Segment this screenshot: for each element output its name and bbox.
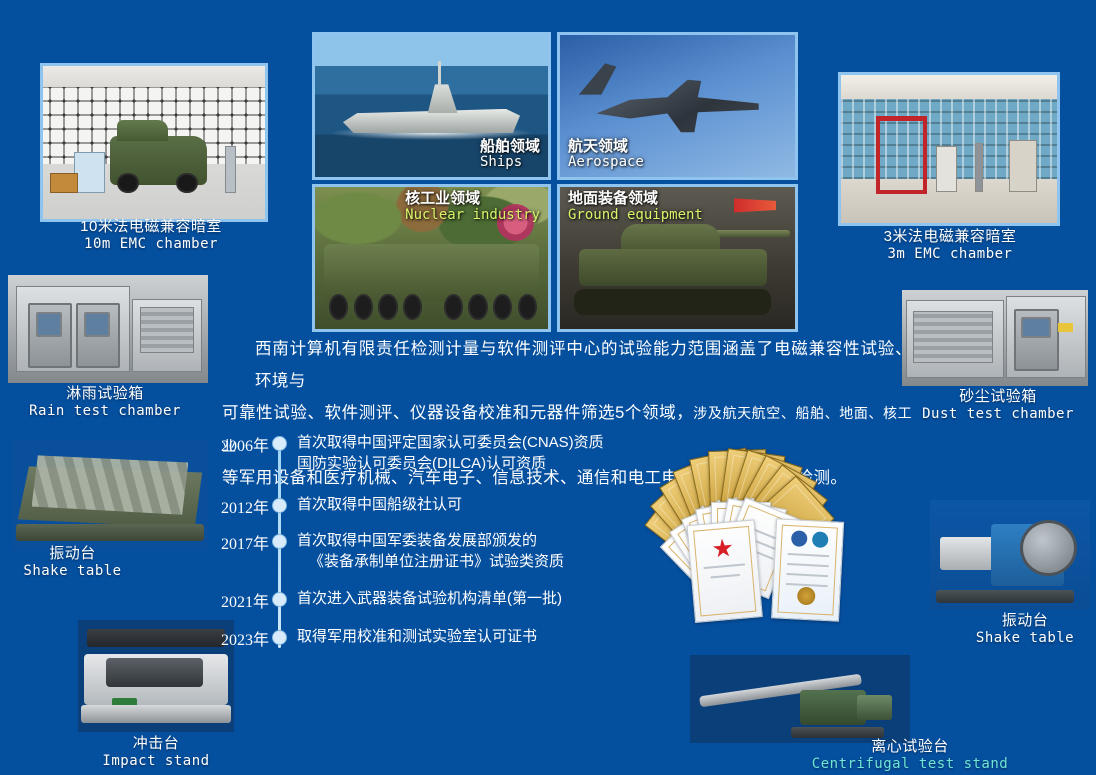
domain-aerospace-en: Aerospace bbox=[568, 155, 644, 171]
caption-impact: 冲击台 Impact stand bbox=[78, 735, 234, 769]
caption-impact-en: Impact stand bbox=[78, 753, 234, 770]
timeline-dot bbox=[273, 437, 286, 450]
domain-ships-cn: 船舶领域 bbox=[480, 139, 540, 156]
caption-emc10-cn: 10米法电磁兼容暗室 bbox=[25, 218, 277, 236]
timeline-year-2012: 2012年 bbox=[205, 494, 269, 518]
domain-nuclear-en: Nuclear industry bbox=[405, 208, 540, 224]
caption-rain-en: Rain test chamber bbox=[0, 403, 210, 420]
timeline-text-2012: 首次取得中国船级社认可 bbox=[297, 494, 622, 515]
photo-centrifugal-stand bbox=[690, 655, 910, 743]
red-star-icon bbox=[712, 538, 734, 560]
ship-mast bbox=[438, 61, 441, 87]
paragraph-line-1: 西南计算机有限责任检测计量与软件测评中心的试验能力范围涵盖了电磁兼容性试验、环境… bbox=[222, 333, 912, 397]
photo-shake-table-left bbox=[12, 440, 208, 550]
antenna-tripod bbox=[975, 143, 983, 192]
timeline-text-2006: 首次取得中国评定国家认可委员会(CNAS)资质 国防实验认可委员会(DILCA)… bbox=[297, 432, 622, 475]
domain-ground-en: Ground equipment bbox=[568, 208, 703, 224]
tel-wheels bbox=[329, 298, 534, 321]
domain-label-ships: 船舶领域 Ships bbox=[480, 139, 540, 171]
caption-shake-right-cn: 振动台 bbox=[955, 612, 1095, 630]
photo-ships: 船舶领域 Ships bbox=[312, 32, 551, 180]
equipment-cabinet bbox=[74, 152, 105, 194]
red-test-frame bbox=[876, 116, 927, 193]
timeline-text-2023: 取得军用校准和测试实验室认可证书 bbox=[297, 626, 622, 647]
test-vehicle bbox=[110, 136, 208, 185]
timeline-text-2023-line1: 取得军用校准和测试实验室认可证书 bbox=[297, 626, 622, 647]
timeline-year-2017: 2017年 bbox=[205, 530, 269, 554]
impact-fixture bbox=[106, 658, 203, 687]
caption-centrifugal-cn: 离心试验台 bbox=[790, 738, 1030, 756]
domain-aerospace-cn: 航天领域 bbox=[568, 139, 644, 156]
caption-dust: 砂尘试验箱 Dust test chamber bbox=[900, 388, 1096, 422]
timeline-text-2021: 首次进入武器装备试验机构清单(第一批) bbox=[297, 588, 622, 609]
equipment-rack bbox=[1009, 140, 1037, 192]
timeline-text-2021-line1: 首次进入武器装备试验机构清单(第一批) bbox=[297, 588, 622, 609]
chamber-shell bbox=[8, 275, 208, 383]
slip-table bbox=[940, 537, 998, 570]
domain-label-ground: 地面装备领域 Ground equipment bbox=[568, 191, 703, 223]
centrifugal-scene bbox=[690, 655, 910, 743]
white-cabinet bbox=[936, 146, 957, 192]
qualification-timeline: 2006年 首次取得中国评定国家认可委员会(CNAS)资质 国防实验认可委员会(… bbox=[205, 432, 625, 657]
paragraph-line-2a: 可靠性试验、软件测评、仪器设备校准和元器件筛选5个领域， bbox=[222, 404, 693, 422]
timeline-text-2017-line1: 首次取得中国军委装备发展部颁发的 bbox=[297, 530, 622, 551]
photo-aerospace: 航天领域 Aerospace bbox=[557, 32, 798, 180]
timeline-dot bbox=[273, 631, 286, 644]
test-bench bbox=[50, 173, 79, 193]
caption-emc10-en: 10m EMC chamber bbox=[25, 236, 277, 253]
timeline-year-2021: 2021年 bbox=[205, 588, 269, 612]
emc10-scene bbox=[43, 66, 265, 219]
tank-hull bbox=[579, 249, 767, 286]
timeline-year-2023: 2023年 bbox=[205, 626, 269, 650]
caption-shake-right-en: Shake table bbox=[955, 630, 1095, 647]
domain-label-nuclear: 核工业领域 Nuclear industry bbox=[405, 191, 540, 223]
tank-track bbox=[574, 289, 771, 315]
photo-dust-chamber bbox=[902, 290, 1088, 386]
ceiling bbox=[43, 66, 265, 87]
caption-centrifugal-en: Centrifugal test stand bbox=[790, 756, 1030, 773]
cnas-logo-icon bbox=[790, 530, 807, 547]
timeline-text-2006-line1: 首次取得中国评定国家认可委员会(CNAS)资质 bbox=[297, 432, 622, 453]
official-seal-icon bbox=[797, 587, 816, 606]
photo-nuclear: 核工业领域 Nuclear industry bbox=[312, 184, 551, 332]
domain-label-aerospace: 航天领域 Aerospace bbox=[568, 139, 644, 171]
accreditation-logo-icon bbox=[811, 531, 828, 548]
transporter-erector-launcher bbox=[324, 244, 538, 301]
shaker-fins bbox=[32, 455, 189, 514]
gearbox bbox=[857, 695, 892, 720]
poster-canvas: 10米法电磁兼容暗室 10m EMC chamber 3米法电磁兼容暗室 3m … bbox=[0, 0, 1096, 775]
emc3-scene bbox=[841, 75, 1057, 223]
timeline-year-2006: 2006年 bbox=[205, 432, 269, 456]
shaker-armature bbox=[1020, 520, 1077, 577]
caption-emc10: 10米法电磁兼容暗室 10m EMC chamber bbox=[25, 218, 277, 252]
photo-emc3 bbox=[838, 72, 1060, 226]
ceiling bbox=[841, 75, 1057, 99]
timeline-text-2006-line2: 国防实验认可委员会(DILCA)认可资质 bbox=[297, 453, 622, 474]
timeline-text-2017: 首次取得中国军委装备发展部颁发的 《装备承制单位注册证书》试验类资质 bbox=[297, 530, 622, 573]
timeline-dot bbox=[273, 535, 286, 548]
photo-emc10 bbox=[40, 63, 268, 222]
caption-shake-left-cn: 振动台 bbox=[0, 545, 145, 563]
photo-rain-chamber bbox=[8, 275, 208, 383]
domain-ships-en: Ships bbox=[480, 155, 540, 171]
dust-chamber-scene bbox=[902, 290, 1088, 386]
caption-centrifugal: 离心试验台 Centrifugal test stand bbox=[790, 738, 1030, 772]
domain-ground-cn: 地面装备领域 bbox=[568, 191, 703, 208]
photo-ground: 地面装备领域 Ground equipment bbox=[557, 184, 798, 332]
chamber-shell bbox=[902, 290, 1088, 386]
machine-base bbox=[791, 727, 883, 738]
domain-nuclear-cn: 核工业领域 bbox=[405, 191, 540, 208]
rain-chamber-scene bbox=[8, 275, 208, 383]
timeline-dot bbox=[273, 499, 286, 512]
caption-shake-left-en: Shake table bbox=[0, 563, 145, 580]
caption-emc3-cn: 3米法电磁兼容暗室 bbox=[845, 228, 1055, 246]
caption-rain-cn: 淋雨试验箱 bbox=[0, 385, 210, 403]
certificate-sheet-front-left bbox=[687, 519, 763, 623]
certificate-fan bbox=[575, 468, 905, 628]
caption-dust-cn: 砂尘试验箱 bbox=[900, 388, 1096, 406]
photo-shake-table-right bbox=[930, 500, 1090, 610]
shake-table-left-scene bbox=[12, 440, 208, 550]
caption-rain: 淋雨试验箱 Rain test chamber bbox=[0, 385, 210, 419]
caption-shake-right: 振动台 Shake table bbox=[955, 612, 1095, 646]
shaker-base bbox=[936, 590, 1074, 603]
timeline-dot bbox=[273, 593, 286, 606]
antenna-mast bbox=[225, 146, 236, 194]
shaker-base bbox=[16, 524, 204, 542]
caption-emc3: 3米法电磁兼容暗室 3m EMC chamber bbox=[845, 228, 1055, 262]
caption-dust-en: Dust test chamber bbox=[900, 406, 1096, 423]
certificate-sheet-front-right bbox=[771, 518, 844, 621]
shake-table-right-scene bbox=[930, 500, 1090, 610]
caption-shake-left: 振动台 Shake table bbox=[0, 545, 145, 579]
impact-base bbox=[81, 705, 231, 723]
timeline-text-2017-line2: 《装备承制单位注册证书》试验类资质 bbox=[297, 551, 622, 572]
caption-emc3-en: 3m EMC chamber bbox=[845, 246, 1055, 263]
timeline-text-2012-line1: 首次取得中国船级社认可 bbox=[297, 494, 622, 515]
caption-impact-cn: 冲击台 bbox=[78, 735, 234, 753]
drive-motor bbox=[800, 690, 866, 725]
